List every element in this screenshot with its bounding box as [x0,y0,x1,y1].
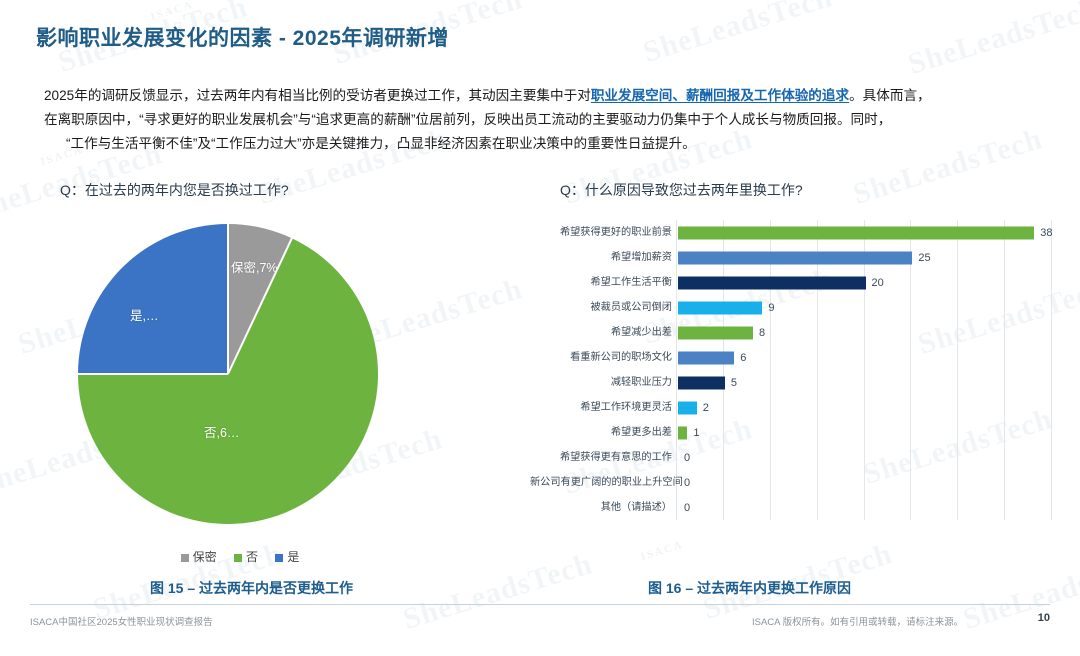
bar-row[interactable]: 希望工作环境更灵活2 [530,395,1065,420]
figure-caption-15: 图 15 – 过去两年内是否更换工作 [150,578,353,598]
bar-segment[interactable] [678,226,1034,239]
legend-item-no[interactable]: 否 [234,548,258,565]
bar-track: 9 [678,295,1065,320]
pie-label-no: 否,6… [204,422,239,441]
bar-segment[interactable] [678,426,687,439]
bar-category-label: 希望获得更好的职业前景 [530,220,678,245]
right-chart-panel: Q：什么原因导致您过去两年里换工作? 希望获得更好的职业前景38希望增加薪资25… [530,180,1065,546]
bar-row[interactable]: 希望更多出差1 [530,420,1065,445]
bar-value-label: 9 [768,302,774,314]
legend-label: 是 [287,550,299,564]
footer-copyright: ISACA 版权所有。如有引用或转载，请标注来源。 [752,614,963,628]
bar-segment[interactable] [678,376,725,389]
bar-category-label: 减轻职业压力 [530,370,678,395]
left-question-title: Q：在过去的两年内您是否换过工作? [60,180,530,200]
bar-row[interactable]: 新公司有更广阔的的职业上升空间0 [530,470,1065,495]
bar-value-label: 0 [684,477,690,489]
legend-swatch-icon [234,554,242,562]
footer-page-number: 10 [1038,612,1050,624]
pie-legend: 保密 否 是 [30,548,450,565]
left-chart-panel: Q：在过去的两年内您是否换过工作? 保密,7% 是,… 否,6… 保密 否 是 [30,180,530,558]
legend-item-yes[interactable]: 是 [275,548,299,565]
bar-track: 6 [678,345,1065,370]
intro-line-1: 2025年的调研反馈显示，过去两年内有相当比例的受访者更换过工作，其动因主要集中… [44,84,1044,108]
pie-chart: 保密,7% 是,… 否,6… 保密 否 是 [30,218,530,558]
bar-category-label: 新公司有更广阔的的职业上升空间 [530,470,678,495]
pie-label-confidential: 保密,7% [231,257,278,276]
bar-value-label: 8 [759,327,765,339]
bar-track: 2 [678,395,1065,420]
bar-track: 1 [678,420,1065,445]
bar-row[interactable]: 其他（请描述）0 [530,495,1065,520]
bar-track: 25 [678,245,1065,270]
bar-row[interactable]: 希望工作生活平衡20 [530,270,1065,295]
bar-category-label: 希望增加薪资 [530,245,678,270]
bar-category-label: 被裁员或公司倒闭 [530,295,678,320]
bar-track: 5 [678,370,1065,395]
footer-report-name: ISACA中国社区2025女性职业现状调查报告 [30,614,213,628]
footer-divider [30,604,1050,605]
figure-caption-16: 图 16 – 过去两年内更换工作原因 [648,578,851,598]
bar-value-label: 1 [693,427,699,439]
legend-swatch-icon [275,554,283,562]
bar-value-label: 0 [684,502,690,514]
pie-slice-separators [78,224,378,524]
intro-paragraph: 2025年的调研反馈显示，过去两年内有相当比例的受访者更换过工作，其动因主要集中… [44,84,1044,156]
bar-segment[interactable] [678,276,866,289]
legend-label: 保密 [193,550,217,564]
bar-row[interactable]: 希望获得更好的职业前景38 [530,220,1065,245]
intro-highlight: 职业发展空间、薪酬回报及工作体验的追求 [591,88,849,103]
bar-track: 0 [678,495,1065,520]
intro-line-1-text-a: 2025年的调研反馈显示，过去两年内有相当比例的受访者更换过工作，其动因主要集中… [44,88,591,103]
bar-value-label: 20 [872,277,884,289]
bar-track: 38 [678,220,1065,245]
bar-category-label: 希望工作生活平衡 [530,270,678,295]
bar-row[interactable]: 希望增加薪资25 [530,245,1065,270]
bar-row[interactable]: 减轻职业压力5 [530,370,1065,395]
right-question-title: Q：什么原因导致您过去两年里换工作? [560,180,1065,200]
page-title: 影响职业发展变化的因素 - 2025年调研新增 [36,22,449,52]
bar-category-label: 其他（请描述） [530,495,678,520]
bar-segment[interactable] [678,326,753,339]
pie-label-yes: 是,… [130,305,158,324]
bar-track: 0 [678,445,1065,470]
bar-rows: 希望获得更好的职业前景38希望增加薪资25希望工作生活平衡20被裁员或公司倒闭9… [530,220,1065,520]
bar-segment[interactable] [678,251,912,264]
bar-value-label: 2 [703,402,709,414]
bar-category-label: 希望减少出差 [530,320,678,345]
bar-value-label: 25 [918,252,930,264]
bar-row[interactable]: 被裁员或公司倒闭9 [530,295,1065,320]
bar-row[interactable]: 看重新公司的职场文化6 [530,345,1065,370]
watermark-brand: SheLeadsTech [904,0,1080,82]
intro-line-2: 在离职原因中，“寻求更好的职业发展机会”与“追求更高的薪酬”位居前列，反映出员工… [44,108,1044,132]
slide-page: SheLeadsTech ISACA SheLeadsTech SheLeads… [0,0,1080,656]
watermark-sub: ISACA [149,0,195,23]
legend-item-confidential[interactable]: 保密 [181,548,217,565]
page-footer: ISACA中国社区2025女性职业现状调查报告 ISACA 版权所有。如有引用或… [0,612,1080,642]
legend-swatch-icon [181,554,189,562]
bar-value-label: 0 [684,452,690,464]
bar-track: 0 [678,470,1065,495]
bar-row[interactable]: 希望获得更有意思的工作0 [530,445,1065,470]
bar-category-label: 希望获得更有意思的工作 [530,445,678,470]
watermark-brand: SheLeadsTech [639,0,836,70]
intro-line-1-text-b: 。具体而言， [849,88,931,103]
bar-segment[interactable] [678,401,697,414]
bar-category-label: 希望工作环境更灵活 [530,395,678,420]
bar-segment[interactable] [678,351,734,364]
legend-label: 否 [246,550,258,564]
bar-track: 8 [678,320,1065,345]
bar-row[interactable]: 希望减少出差8 [530,320,1065,345]
bar-category-label: 希望更多出差 [530,420,678,445]
intro-line-3: “工作与生活平衡不佳”及“工作压力过大”亦是关键推力，凸显非经济因素在职业决策中… [44,132,1044,156]
bar-chart: 希望获得更好的职业前景38希望增加薪资25希望工作生活平衡20被裁员或公司倒闭9… [530,216,1065,546]
bar-category-label: 看重新公司的职场文化 [530,345,678,370]
bar-value-label: 5 [731,377,737,389]
bar-track: 20 [678,270,1065,295]
bar-value-label: 38 [1040,227,1052,239]
bar-value-label: 6 [740,352,746,364]
bar-segment[interactable] [678,301,762,314]
